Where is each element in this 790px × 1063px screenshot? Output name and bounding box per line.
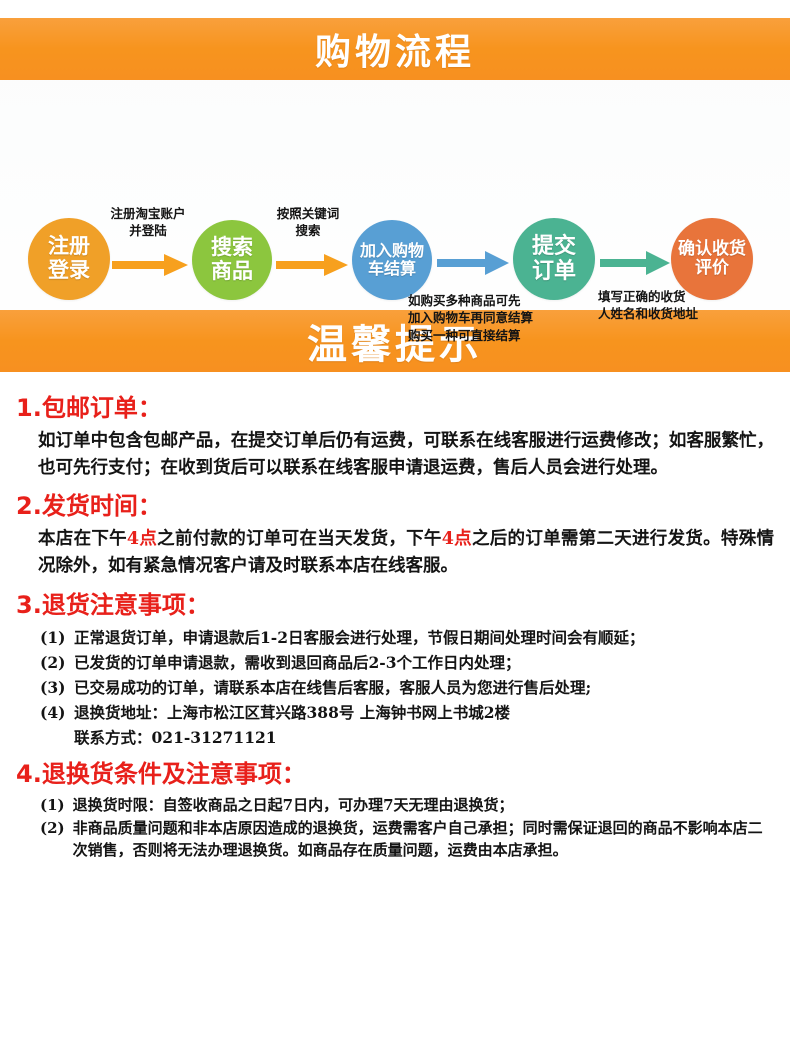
flow-node-register-login-line2: 登录 [48,259,90,283]
tips-section-exchange-conditions: 4.退换货条件及注意事项： (1) 退换货时限：自签收商品之日起7日内，可办理7… [16,756,774,862]
return-address-text: 退换货地址：上海市松江区茸兴路388号 上海钟书网上书城2楼 [74,703,510,722]
list-item: (4) 退换货地址：上海市松江区茸兴路388号 上海钟书网上书城2楼 联系方式：… [40,700,774,750]
return-note-marker-4: (4) [40,700,66,725]
flow-node-add-to-cart: 加入购物 车结算 [352,220,432,300]
flow-node-submit-order: 提交 订单 [513,218,595,300]
flow-caption-register-line2: 并登陆 [102,223,194,240]
flow-arrow-2-icon [276,252,348,278]
flow-caption-register-line1: 注册淘宝账户 [102,206,194,223]
exchange-conditions-list: (1) 退换货时限：自签收商品之日起7日内，可办理7天无理由退换货； (2) 非… [16,794,774,862]
flow-caption-cart: 如购买多种商品可先 加入购物车再同意结算 购买一种可直接结算 [408,292,533,344]
list-item: (1) 正常退货订单，申请退款后1-2日客服会进行处理，节假日期间处理时间会有顺… [40,625,774,650]
exchange-marker-2: (2) [40,817,65,840]
flow-caption-search-line2: 搜索 [266,223,350,240]
flow-node-register-login: 注册 登录 [28,218,110,300]
tips-content: 1.包邮订单： 如订单中包含包邮产品，在提交订单后仍有运费，可联系在线客服进行运… [0,372,790,862]
flow-arrow-3-icon [437,250,509,276]
tips-section-4-heading: 4.退换货条件及注意事项： [16,756,774,792]
tips-section-3-heading: 3.退货注意事项： [16,587,774,623]
tips-section-2-body: 本店在下午4点之前付款的订单可在当天发货，下午4点之后的订单需第二天进行发货。特… [16,526,774,580]
exchange-text-2: 非商品质量问题和非本店原因造成的退换货，运费需客户自己承担；同时需保证退回的商品… [73,817,774,862]
flow-node-submit-order-line1: 提交 [532,234,576,259]
shopping-process-title: 购物流程 [315,23,475,75]
exchange-marker-1: (1) [40,794,65,817]
shipping-time-seg-0: 本店在下午 [38,529,127,549]
shopping-flow-diagram: 注册 登录 注册淘宝账户 并登陆 搜索 商品 按照关键词 搜索 [0,80,790,298]
flow-node-search-product-line1: 搜索 [211,236,253,260]
flow-caption-register: 注册淘宝账户 并登陆 [102,206,194,239]
return-note-marker-1: (1) [40,625,66,650]
flow-caption-search: 按照关键词 搜索 [266,206,350,239]
flow-arrow-1-icon [112,252,188,278]
tips-section-1-body: 如订单中包含包邮产品，在提交订单后仍有运费，可联系在线客服进行运费修改；如客服繁… [16,428,774,482]
flow-caption-cart-line1: 如购买多种商品可先 [408,292,533,309]
flow-arrow-4-icon [600,250,670,276]
flow-caption-address: 填写正确的收货 人姓名和收货地址 [598,288,698,323]
list-item: (2) 已发货的订单申请退款，需收到退回商品后2-3个工作日内处理； [40,650,774,675]
tips-section-shipping-time: 2.发货时间： 本店在下午4点之前付款的订单可在当天发货，下午4点之后的订单需第… [16,488,774,580]
return-notes-list: (1) 正常退货订单，申请退款后1-2日客服会进行处理，节假日期间处理时间会有顺… [16,625,774,751]
flow-caption-search-line1: 按照关键词 [266,206,350,223]
return-note-text-3: 已交易成功的订单，请联系本店在线售后客服，客服人员为您进行售后处理; [74,675,774,700]
exchange-text-1: 退换货时限：自签收商品之日起7日内，可办理7天无理由退换货； [73,794,774,817]
return-note-text-4-wrapper: 退换货地址：上海市松江区茸兴路388号 上海钟书网上书城2楼 联系方式：021-… [74,700,774,750]
tips-section-return-notes: 3.退货注意事项： (1) 正常退货订单，申请退款后1-2日客服会进行处理，节假… [16,587,774,751]
shipping-time-highlight-2: 4点 [442,529,472,549]
flow-node-add-to-cart-line1: 加入购物 [360,242,424,260]
flow-caption-cart-line2: 加入购物车再同意结算 [408,309,533,326]
list-item: (2) 非商品质量问题和非本店原因造成的退换货，运费需客户自己承担；同时需保证退… [40,817,774,862]
return-note-text-1: 正常退货订单，申请退款后1-2日客服会进行处理，节假日期间处理时间会有顺延； [74,625,774,650]
return-contact-text: 联系方式：021-31271121 [74,725,774,750]
shopping-process-banner: 购物流程 [0,18,790,80]
list-item: (1) 退换货时限：自签收商品之日起7日内，可办理7天无理由退换货； [40,794,774,817]
return-note-text-2: 已发货的订单申请退款，需收到退回商品后2-3个工作日内处理； [74,650,774,675]
flow-node-submit-order-line2: 订单 [532,259,576,284]
return-note-marker-2: (2) [40,650,66,675]
flow-node-register-login-line1: 注册 [48,235,90,259]
flow-caption-cart-line3: 购买一种可直接结算 [408,327,533,344]
return-note-marker-3: (3) [40,675,66,700]
list-item: (3) 已交易成功的订单，请联系本店在线售后客服，客服人员为您进行售后处理; [40,675,774,700]
tips-section-1-heading: 1.包邮订单： [16,390,774,426]
flow-node-confirm-receipt: 确认收货 评价 [671,218,753,300]
flow-node-confirm-receipt-line1: 确认收货 [678,240,746,259]
flow-node-add-to-cart-line2: 车结算 [368,260,416,278]
flow-caption-address-line1: 填写正确的收货 [598,288,698,305]
shipping-time-seg-2: 之前付款的订单可在当天发货，下午 [157,529,442,549]
tips-section-free-shipping-orders: 1.包邮订单： 如订单中包含包邮产品，在提交订单后仍有运费，可联系在线客服进行运… [16,390,774,482]
flow-node-search-product-line2: 商品 [211,260,253,284]
shopping-guide-page: 购物流程 注册 登录 注册淘宝账户 并登陆 搜索 商品 按照关键词 搜索 [0,18,790,1063]
flow-caption-address-line2: 人姓名和收货地址 [598,305,698,322]
flow-node-confirm-receipt-line2: 评价 [695,259,729,278]
flow-node-search-product: 搜索 商品 [192,220,272,300]
tips-section-2-heading: 2.发货时间： [16,488,774,524]
shipping-time-highlight-1: 4点 [127,529,157,549]
